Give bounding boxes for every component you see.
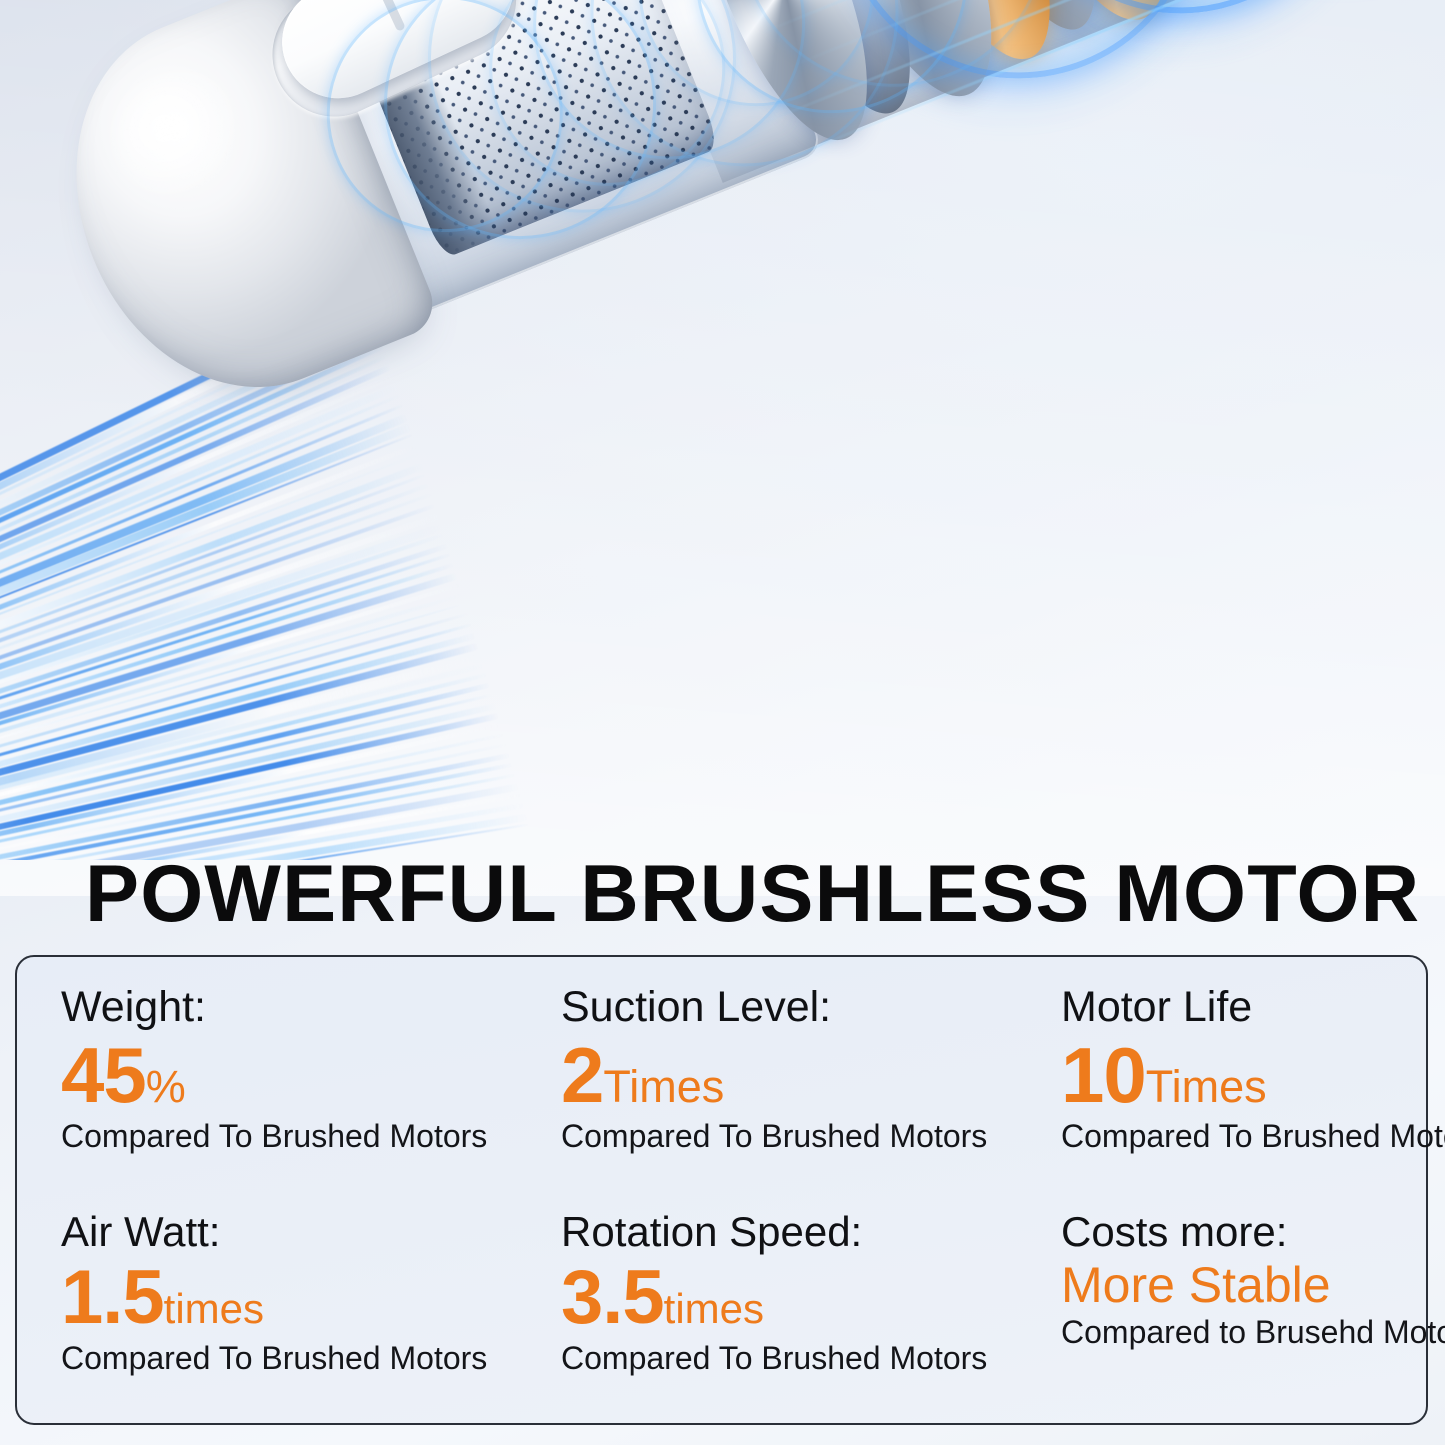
stat-value: 3.5 (561, 1255, 664, 1340)
stat-label: Air Watt: (61, 1210, 561, 1254)
stat-label: Motor Life (1061, 985, 1445, 1030)
stat-caption: Compared To Brushed Motors (1061, 1118, 1445, 1155)
stats-grid: Weight: 45% Compared To Brushed Motors S… (17, 957, 1426, 1423)
stat-unit: % (146, 1061, 186, 1112)
stats-panel: Weight: 45% Compared To Brushed Motors S… (15, 955, 1428, 1425)
stat-caption: Compared To Brushed Motors (61, 1340, 561, 1377)
page-title: POWERFUL BRUSHLESS MOTOR (85, 854, 1375, 935)
stat-cell-air-watt: Air Watt: 1.5times Compared To Brushed M… (61, 1210, 561, 1435)
stat-unit: times (164, 1285, 264, 1332)
stat-caption: Compared To Brushed Motors (561, 1118, 1061, 1155)
stat-value-row: 2Times (561, 1036, 1061, 1114)
stat-unit: Times (1146, 1061, 1267, 1112)
stat-phrase: More Stable (1061, 1257, 1331, 1313)
hero-product-image (0, 0, 1445, 860)
stat-value: 45 (61, 1031, 146, 1119)
infographic-canvas: POWERFUL BRUSHLESS MOTOR Weight: 45% Com… (0, 0, 1445, 1445)
stat-value: 10 (1061, 1031, 1146, 1119)
stat-value-row: 45% (61, 1036, 561, 1114)
stat-cell-costs-more: Costs more: More Stable Compared to Brus… (1061, 1210, 1445, 1435)
stat-cell-rotation-speed: Rotation Speed: 3.5times Compared To Bru… (561, 1210, 1061, 1435)
stat-unit: Times (603, 1061, 724, 1112)
stat-value: 2 (561, 1031, 603, 1119)
stat-label: Rotation Speed: (561, 1210, 1061, 1254)
stat-cell-suction-level: Suction Level: 2Times Compared To Brushe… (561, 985, 1061, 1210)
stat-cell-motor-life: Motor Life 10Times Compared To Brushed M… (1061, 985, 1445, 1210)
stat-cell-weight: Weight: 45% Compared To Brushed Motors (61, 985, 561, 1210)
stat-label: Suction Level: (561, 985, 1061, 1030)
stat-caption: Compared to Brusehd Motor (1061, 1314, 1445, 1351)
stat-value-row: 1.5times (61, 1260, 561, 1336)
stat-value: 1.5 (61, 1255, 164, 1340)
stat-unit: times (664, 1285, 764, 1332)
stat-value-row: More Stable (1061, 1260, 1445, 1310)
stat-label: Costs more: (1061, 1210, 1445, 1254)
stat-label: Weight: (61, 985, 561, 1030)
stat-value-row: 10Times (1061, 1036, 1445, 1114)
stat-caption: Compared To Brushed Motors (561, 1340, 1061, 1377)
stat-value-row: 3.5times (561, 1260, 1061, 1336)
stat-caption: Compared To Brushed Motors (61, 1118, 561, 1155)
